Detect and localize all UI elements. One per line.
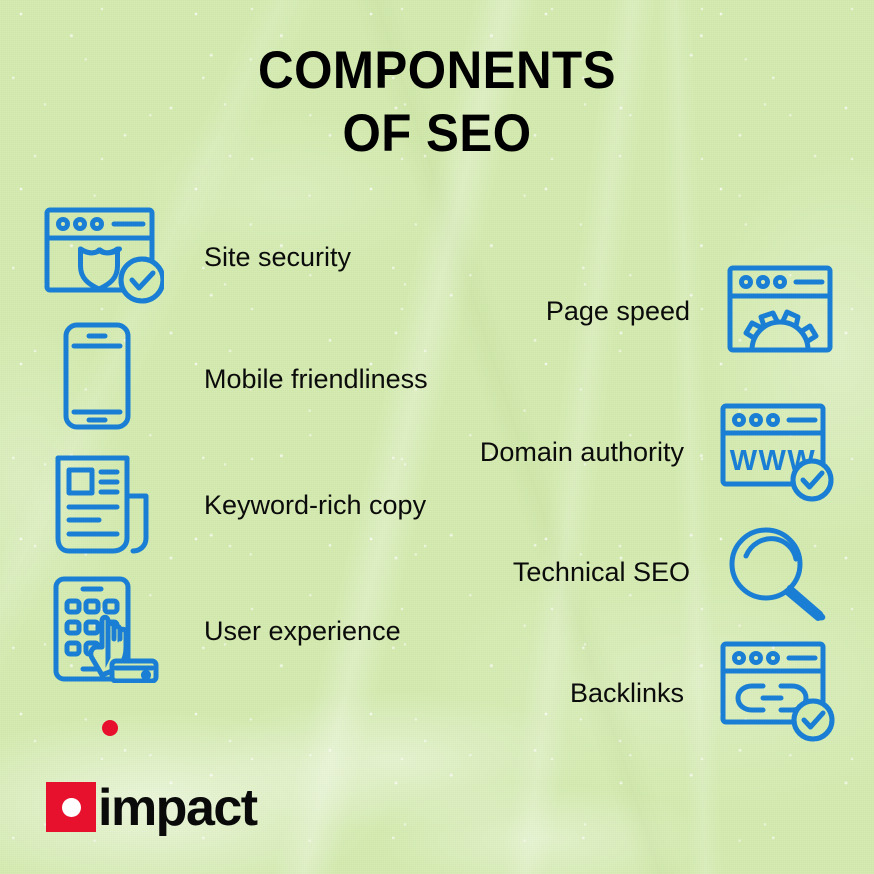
browser-gear-icon [724, 260, 836, 358]
red-square-dot-icon [46, 782, 96, 832]
list-item-label: Domain authority [480, 438, 684, 468]
logo-i-dot-icon [102, 720, 118, 736]
list-item-mobile-friendliness: Mobile friendliness [42, 320, 428, 432]
newspaper-article-icon [42, 452, 164, 556]
list-item-label: Mobile friendliness [204, 365, 428, 395]
list-item-keyword-rich-copy: Keyword-rich copy [42, 452, 426, 556]
list-item-backlinks: Backlinks [570, 638, 836, 743]
browser-chain-link-check-icon [718, 638, 836, 743]
list-item-label: User experience [204, 617, 401, 647]
list-item-label: Backlinks [570, 679, 684, 709]
list-item-label: Keyword-rich copy [204, 491, 426, 521]
logo-white-dot [62, 798, 81, 817]
list-item-user-experience: User experience [42, 575, 401, 683]
mobile-phone-icon [42, 320, 164, 432]
list-item-page-speed: Page speed [546, 260, 836, 358]
tablet-hand-tap-icon [42, 575, 164, 683]
list-item-label: Technical SEO [513, 558, 690, 588]
page-title-line-2: OF SEO [31, 107, 844, 160]
magnifying-glass-icon [724, 522, 836, 622]
page-title: COMPONENTS OF SEO [31, 44, 844, 160]
logo-wordmark: impact [98, 784, 257, 832]
list-item-domain-authority: WWW Domain authority [480, 400, 836, 505]
list-item-label: Site security [204, 243, 351, 273]
page-title-line-1: COMPONENTS [31, 44, 844, 97]
list-item-technical-seo: Technical SEO [513, 522, 836, 622]
infographic-canvas: COMPONENTS OF SEO Site security [0, 0, 874, 874]
list-item-site-security: Site security [42, 196, 351, 306]
impact-logo[interactable]: impact [46, 782, 257, 832]
list-item-label: Page speed [546, 297, 690, 327]
browser-www-check-icon: WWW [718, 400, 836, 505]
browser-shield-check-icon [42, 196, 164, 306]
